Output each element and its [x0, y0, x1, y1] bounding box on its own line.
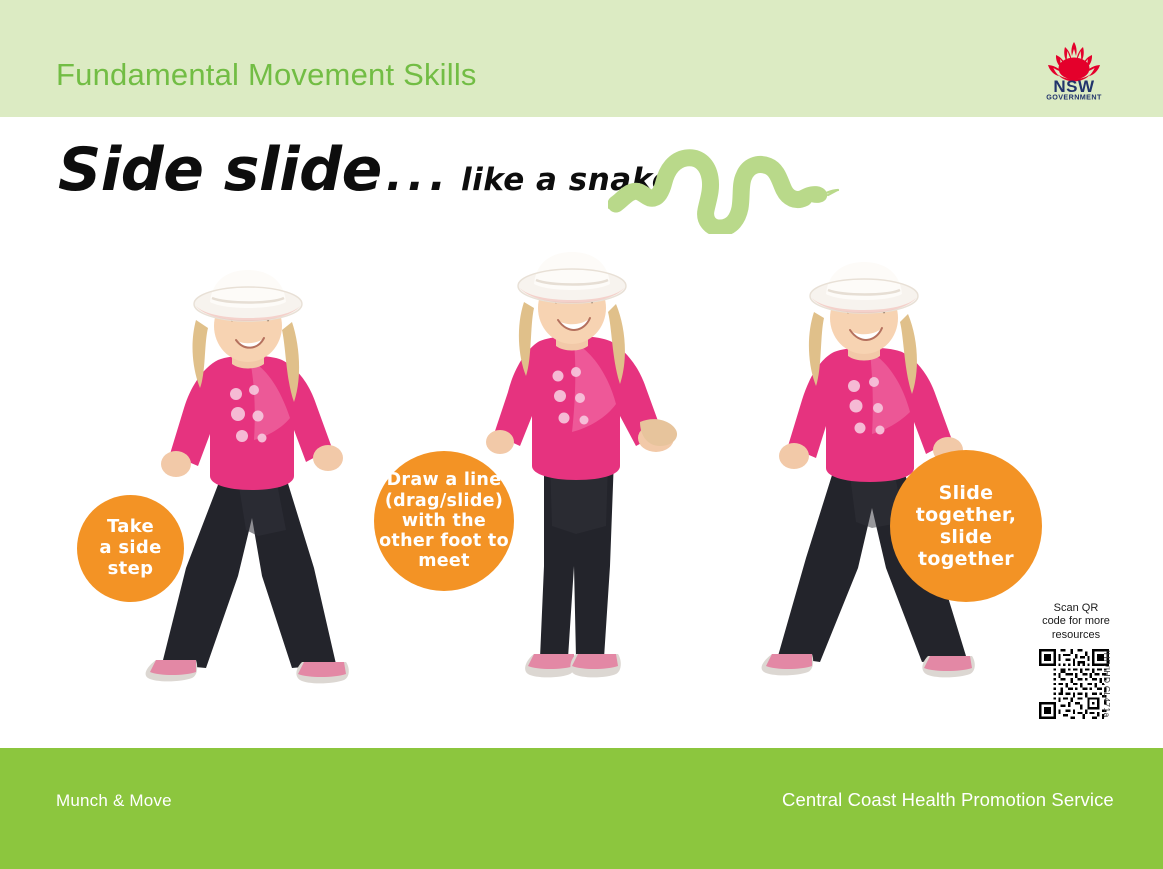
footer-organisation-name: Central Coast Health Promotion Service — [782, 789, 1114, 811]
callout-take-a-side-step: Take a side step — [77, 495, 184, 602]
footer-program-name: Munch & Move — [56, 791, 172, 811]
callout-draw-a-line: Draw a line (drag/slide) with the other … — [374, 451, 514, 591]
svg-text:GOVERNMENT: GOVERNMENT — [1046, 93, 1102, 101]
headline-dots: ... — [382, 150, 451, 201]
page-title: Fundamental Movement Skills — [56, 57, 477, 93]
nsw-government-logo: NSW GOVERNMENT — [1041, 38, 1107, 100]
qr-code-icon[interactable] — [1039, 649, 1109, 719]
publication-reference: IHP/IHD.CL471a — [1102, 650, 1112, 718]
qr-caption: Scan QR code for more resources — [1039, 602, 1113, 642]
poster-root: Fundamental Movement Skills NSW GOVERNME… — [0, 0, 1163, 869]
callout-slide-together: Slide together, slide together — [890, 450, 1042, 602]
headline-main: Side slide — [58, 140, 382, 200]
child-photo-side-step — [86, 268, 416, 692]
snake-icon — [608, 142, 840, 234]
poster-headline: Side slide ... like a snake — [58, 140, 673, 201]
